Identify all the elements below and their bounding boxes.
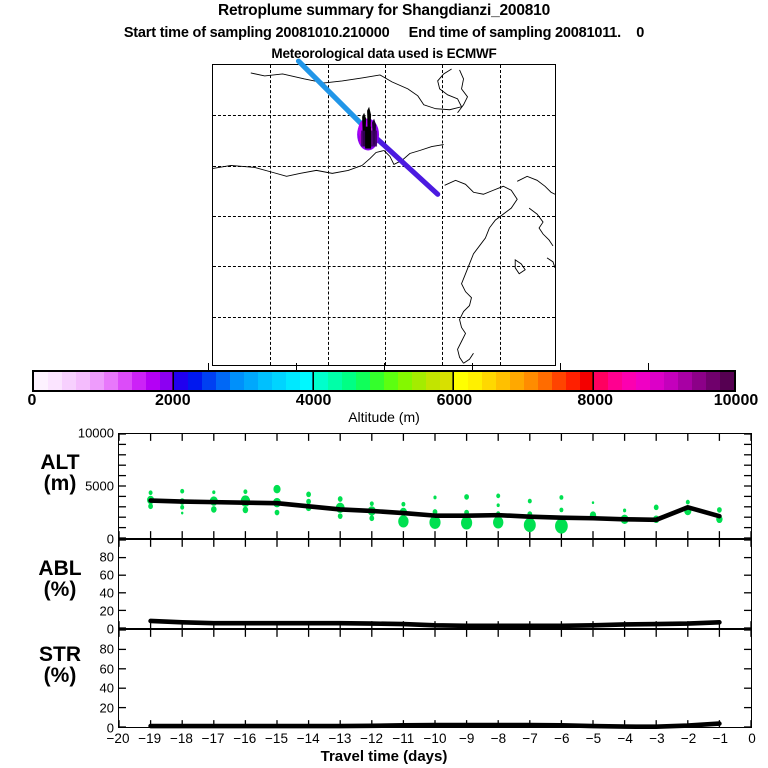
x-tick-label: −17 [202, 731, 225, 746]
x-tick-label: −10 [424, 731, 447, 746]
colorbar-band [440, 372, 454, 390]
colorbar-tick-label: 6000 [437, 392, 473, 410]
alt-distribution-bubble [338, 496, 343, 502]
panel-abl [118, 539, 752, 629]
alt-distribution-bubble [559, 495, 563, 500]
x-axis-title: Travel time (days) [0, 748, 768, 765]
retroplume-map [212, 64, 556, 366]
x-tick-label: −18 [170, 731, 193, 746]
colorbar-band [552, 372, 566, 390]
colorbar-band [272, 372, 286, 390]
alt-distribution-bubble [686, 500, 690, 505]
alt-distribution-bubble [464, 494, 469, 500]
colorbar-tick-label: 2000 [155, 392, 191, 410]
alt-distribution-bubble [559, 508, 563, 513]
altitude-colorbar [32, 370, 736, 392]
alt-distribution-bubble [306, 499, 311, 505]
alt-distribution-bubble [149, 490, 153, 495]
x-axis-tick-labels: −20−19−18−17−16−15−14−13−12−11−10−9−8−7−… [0, 731, 768, 749]
alt-distribution-bubble [398, 515, 408, 527]
x-tick-label: −7 [522, 731, 537, 746]
colorbar-band [342, 372, 356, 390]
abl-y-tick-label: 0 [107, 622, 114, 637]
abl-y-tick-label: 20 [100, 604, 114, 619]
panel-label-abl-line2: (%) [8, 579, 112, 600]
panel-label-abl: ABL (%) [8, 558, 112, 601]
panel-label-abl-line1: ABL [8, 558, 112, 579]
x-tick-label: −20 [107, 731, 130, 746]
colorbar-band [370, 372, 384, 390]
x-tick-label: −16 [233, 731, 256, 746]
colorbar-band [538, 372, 552, 390]
panel-str [118, 629, 752, 728]
panel-label-str-line1: STR [8, 644, 112, 665]
colorbar-band [188, 372, 202, 390]
abl-y-tick-label: 60 [100, 568, 114, 583]
colorbar-band [566, 372, 580, 390]
colorbar-tick-label: 10000 [714, 392, 759, 410]
panel-alt [118, 433, 752, 539]
alt-distribution-bubble [654, 504, 659, 510]
colorbar-band [300, 372, 314, 390]
alt-distribution-bubble [306, 491, 311, 497]
abl-plot-area [119, 540, 751, 628]
panel-label-str: STR (%) [8, 644, 112, 687]
alt-distribution-bubble [148, 503, 153, 509]
colorbar-tick-label: 8000 [577, 392, 613, 410]
colorbar-band [608, 372, 622, 390]
colorbar-band [706, 372, 720, 390]
x-tick-label: −5 [586, 731, 601, 746]
colorbar-band [286, 372, 300, 390]
str-y-tick-label: 80 [100, 641, 114, 656]
alt-distribution-bubble [493, 516, 503, 528]
colorbar-band [510, 372, 524, 390]
colorbar-band [314, 372, 328, 390]
x-tick-label: −13 [328, 731, 351, 746]
colorbar-band [454, 372, 468, 390]
x-tick-label: −1 [713, 731, 728, 746]
alt-distribution-bubble [275, 510, 280, 516]
colorbar-band [258, 372, 272, 390]
x-tick-label: −6 [554, 731, 569, 746]
str-plot-area [119, 630, 751, 727]
colorbar-band [678, 372, 692, 390]
colorbar-band [594, 372, 608, 390]
x-tick-label: −11 [392, 731, 414, 746]
colorbar-band [160, 372, 174, 390]
x-tick-label: −15 [265, 731, 288, 746]
sampling-time-subtitle: Start time of sampling 20081010.210000 E… [0, 25, 768, 41]
colorbar-band [398, 372, 412, 390]
x-tick-label: −12 [360, 731, 383, 746]
colorbar-axis-title: Altitude (m) [0, 409, 768, 425]
alt-y-tick-label: 5000 [85, 479, 114, 494]
plume-footprint [213, 65, 555, 365]
alt-distribution-bubble [496, 494, 500, 499]
colorbar-band [650, 372, 664, 390]
colorbar-band [496, 372, 510, 390]
colorbar-band [202, 372, 216, 390]
colorbar-band [426, 372, 440, 390]
alt-distribution-bubble [212, 490, 215, 494]
colorbar-band [132, 372, 146, 390]
x-tick-label: −14 [297, 731, 320, 746]
x-tick-label: −9 [459, 731, 474, 746]
colorbar-band [692, 372, 706, 390]
abl-y-tick-label: 40 [100, 586, 114, 601]
colorbar-band [244, 372, 258, 390]
alt-distribution-bubble [180, 489, 184, 494]
alt-distribution-bubble [524, 518, 536, 532]
colorbar-band [328, 372, 342, 390]
alt-distribution-bubble [433, 496, 436, 500]
colorbar-band [524, 372, 538, 390]
colorbar-band [76, 372, 90, 390]
alt-distribution-bubble [497, 503, 500, 507]
alt-y-tick-label: 10000 [78, 426, 114, 441]
alt-distribution-bubble [461, 516, 472, 529]
panel-label-str-line2: (%) [8, 665, 112, 686]
alt-distribution-bubble [592, 501, 594, 504]
alt-plot-area [119, 434, 751, 538]
alt-y-tick-label: 0 [107, 532, 114, 547]
page-title: Retroplume summary for Shangdianzi_20081… [0, 2, 768, 20]
alt-distribution-bubble [273, 485, 280, 493]
alt-distribution-bubble [369, 515, 374, 521]
panel-label-alt-line1: ALT [8, 452, 112, 473]
meteorology-subtitle: Meteorological data used is ECMWF [0, 46, 768, 61]
alt-distribution-bubble [717, 507, 722, 513]
colorbar-band [216, 372, 230, 390]
alt-distribution-bubble [401, 502, 405, 507]
alt-distribution-bubble [555, 519, 568, 534]
str-y-tick-label: 20 [100, 701, 114, 716]
colorbar-tick-label: 0 [28, 392, 37, 410]
colorbar-band [118, 372, 132, 390]
alt-distribution-bubble [243, 489, 247, 494]
colorbar-tick-label: 4000 [296, 392, 332, 410]
colorbar-band [62, 372, 76, 390]
alt-distribution-bubble [338, 513, 343, 519]
alt-distribution-bubble [243, 507, 249, 514]
colorbar-band [412, 372, 426, 390]
colorbar-band [636, 372, 650, 390]
colorbar-band [90, 372, 104, 390]
colorbar-band [34, 372, 48, 390]
alt-distribution-bubble [623, 509, 626, 513]
x-tick-label: −3 [649, 731, 664, 746]
x-tick-label: −19 [138, 731, 161, 746]
colorbar-band [580, 372, 594, 390]
colorbar-band [104, 372, 118, 390]
colorbar-band [230, 372, 244, 390]
x-tick-label: −4 [617, 731, 632, 746]
colorbar-band [664, 372, 678, 390]
x-tick-label: −8 [491, 731, 506, 746]
colorbar-band [356, 372, 370, 390]
alt-distribution-bubble [181, 512, 183, 515]
alt-distribution-bubble [211, 506, 217, 513]
alt-distribution-bubble [180, 505, 184, 510]
abl-y-tick-label: 80 [100, 550, 114, 565]
colorbar-band [468, 372, 482, 390]
str-y-tick-label: 40 [100, 681, 114, 696]
colorbar-band [720, 372, 734, 390]
series-line [151, 724, 720, 727]
x-tick-label: −2 [681, 731, 696, 746]
str-y-tick-label: 60 [100, 661, 114, 676]
colorbar-band [146, 372, 160, 390]
alt-distribution-bubble [528, 499, 532, 504]
colorbar-band [622, 372, 636, 390]
alt-distribution-bubble [370, 501, 374, 506]
colorbar-band [384, 372, 398, 390]
colorbar-band [482, 372, 496, 390]
x-tick-label: 0 [748, 731, 756, 746]
colorbar-band [48, 372, 62, 390]
colorbar-band [174, 372, 188, 390]
